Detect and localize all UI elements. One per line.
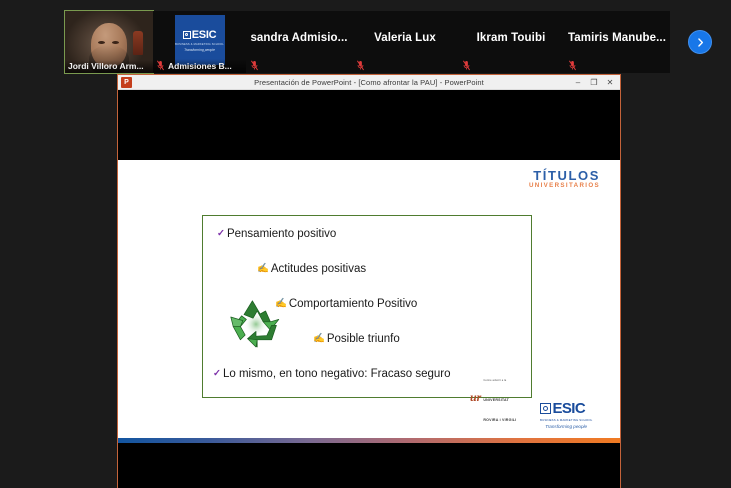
esic-emblem-icon <box>540 403 551 414</box>
presentation-slide[interactable]: TÍTULOS UNIVERSITARIOS ✓ Pensamiento pos… <box>118 160 620 443</box>
urv-logo-text: Centre adscrit a la UNIVERSITAT ROVIRA i… <box>483 367 516 427</box>
bullet-item-4: ✍ Posible triunfo <box>313 333 400 346</box>
esic-footer-tagline: Transforming people <box>540 424 592 429</box>
titulos-logo-line1: TÍTULOS <box>529 169 600 182</box>
esic-logo-text: ESIC <box>192 29 216 41</box>
participant-tile-tamiris[interactable]: Tamiris Manube... <box>564 11 670 73</box>
powerpoint-icon: P <box>121 77 132 88</box>
urv-logo: ur Centre adscrit a la UNIVERSITAT ROVIR… <box>470 367 516 427</box>
window-controls: – ❐ ✕ <box>570 75 620 89</box>
chevron-right-glyph <box>695 37 706 48</box>
filmstrip-left-pad <box>0 0 65 62</box>
participant-tile-video[interactable]: Jordi Villoro Arm... <box>65 11 153 73</box>
microphone-muted-icon <box>568 60 577 71</box>
bullet-item-5: ✓ Lo mismo, en tono negativo: Fracaso se… <box>213 368 451 381</box>
bullet-item-2: ✍ Actitudes positivas <box>257 263 366 276</box>
microphone-muted-icon <box>156 60 165 71</box>
window-titlebar[interactable]: P Presentación de PowerPoint - [Como afr… <box>118 75 620 90</box>
participant-tile-valeria[interactable]: Valeria Lux <box>352 11 458 73</box>
participant-name-label: Valeria Lux <box>368 32 442 44</box>
esic-footer-logo: ESIC BUSINESS & MARKETING SCHOOL Transfo… <box>540 400 592 429</box>
titulos-universitarios-logo: TÍTULOS UNIVERSITARIOS <box>529 169 600 189</box>
esic-logo-subtitle: BUSINESS & MARKETING SCHOOL <box>175 43 224 46</box>
background-lamp <box>133 31 143 55</box>
chevron-right-icon[interactable] <box>688 30 712 54</box>
check-icon: ✓ <box>213 368 221 380</box>
participant-name-label: Tamiris Manube... <box>564 32 670 44</box>
powerpoint-window[interactable]: P Presentación de PowerPoint - [Como afr… <box>117 74 621 488</box>
urv-logo-line2: UNIVERSITAT <box>483 398 509 402</box>
hand-pointer-icon: ✍ <box>313 333 325 345</box>
participant-name-label: Admisiones B... <box>168 61 232 71</box>
slide-accent-bar <box>118 438 620 443</box>
esic-emblem-icon <box>183 31 191 39</box>
microphone-muted-icon <box>250 60 259 71</box>
bullet-item-1: ✓ Pensamiento positivo <box>217 228 336 241</box>
bullet-label: Pensamiento positivo <box>227 228 336 241</box>
participant-name-overlay: Admisiones B... <box>153 59 246 73</box>
maximize-button[interactable]: ❐ <box>586 75 602 89</box>
esic-logo-tagline: Transforming people <box>184 48 215 52</box>
urv-logo-line1: Centre adscrit a la <box>483 379 506 382</box>
hand-pointer-icon: ✍ <box>257 263 269 275</box>
screen: Jordi Villoro Arm... ESIC BUSINESS & MAR… <box>0 0 731 488</box>
close-button[interactable]: ✕ <box>602 75 618 89</box>
participant-name-label: sandra Admisio... <box>246 32 352 44</box>
esic-footer-subtitle: BUSINESS & MARKETING SCHOOL <box>540 418 592 422</box>
person-eye-right <box>112 41 119 44</box>
filmstrip-next-page-area <box>670 11 730 73</box>
recycling-symbol-icon <box>225 293 287 353</box>
titulos-logo-line2: UNIVERSITARIOS <box>529 183 600 189</box>
minimize-button[interactable]: – <box>570 75 586 89</box>
bullet-label: Posible triunfo <box>327 333 400 346</box>
window-title: Presentación de PowerPoint - [Como afron… <box>118 78 620 87</box>
bullet-label: Lo mismo, en tono negativo: Fracaso segu… <box>223 368 451 381</box>
participant-tile-admisiones[interactable]: ESIC BUSINESS & MARKETING SCHOOL Transfo… <box>153 11 246 73</box>
bullet-item-3: ✍ Comportamiento Positivo <box>275 298 417 311</box>
microphone-muted-icon <box>462 60 471 71</box>
esic-logo-wordmark: ESIC <box>183 29 216 41</box>
esic-logo: ESIC BUSINESS & MARKETING SCHOOL Transfo… <box>175 15 225 65</box>
urv-emblem-icon: ur <box>470 390 481 405</box>
esic-footer-name: ESIC <box>553 400 586 417</box>
person-eye-left <box>98 41 105 44</box>
participant-tile-sandra[interactable]: sandra Admisio... <box>246 11 352 73</box>
esic-footer-wordmark: ESIC <box>540 400 592 417</box>
participant-tile-ikram[interactable]: Ikram Touibi <box>458 11 564 73</box>
urv-logo-line3: ROVIRA i VIRGILI <box>483 418 516 422</box>
participant-name-label: Jordi Villoro Arm... <box>68 61 144 71</box>
bullet-label: Comportamiento Positivo <box>289 298 417 311</box>
zoom-participant-filmstrip: Jordi Villoro Arm... ESIC BUSINESS & MAR… <box>0 0 731 74</box>
bullet-label: Actitudes positivas <box>271 263 366 276</box>
participant-name-label: Ikram Touibi <box>471 32 552 44</box>
slide-footer-logos: ur Centre adscrit a la UNIVERSITAT ROVIR… <box>118 399 620 429</box>
participant-name-overlay: Jordi Villoro Arm... <box>65 60 153 73</box>
microphone-muted-icon <box>356 60 365 71</box>
check-icon: ✓ <box>217 228 225 240</box>
slideshow-stage[interactable]: TÍTULOS UNIVERSITARIOS ✓ Pensamiento pos… <box>118 90 620 488</box>
